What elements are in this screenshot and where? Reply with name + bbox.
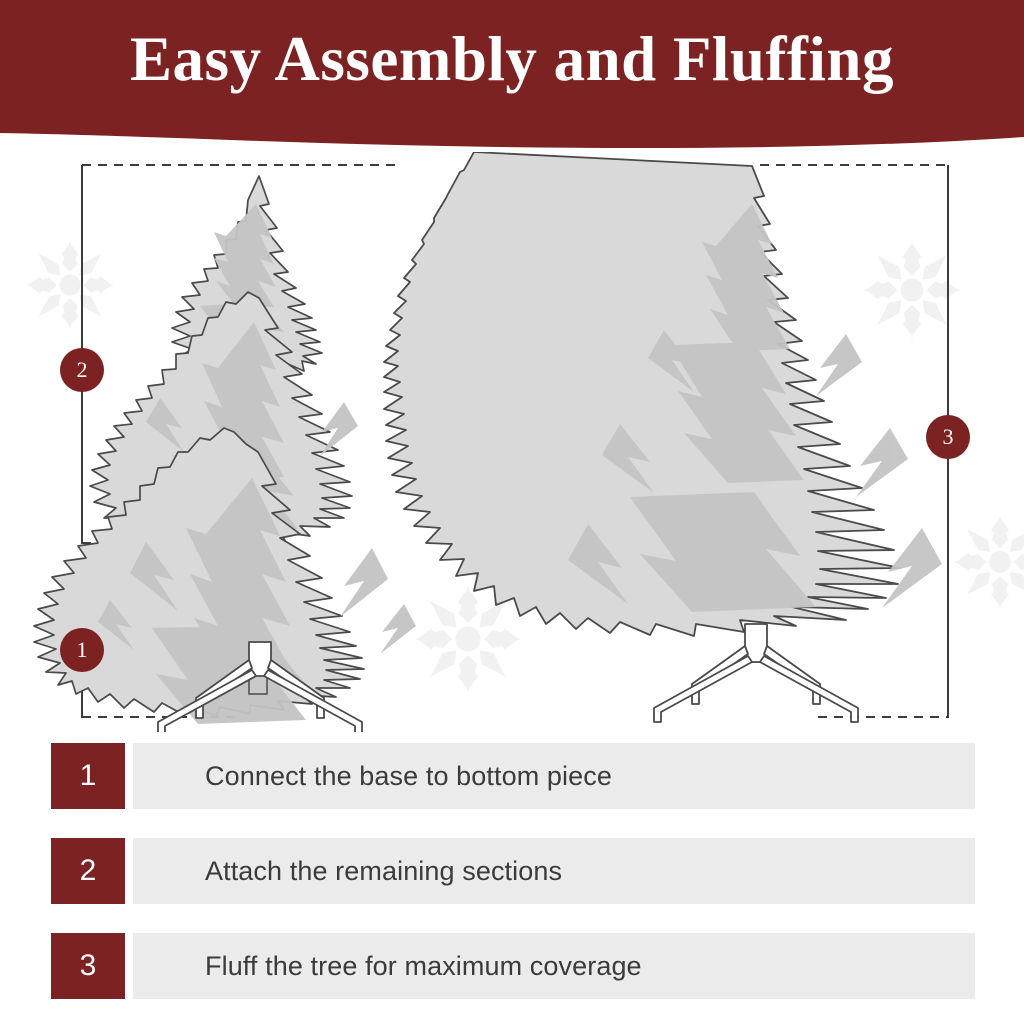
step-text-bar: Attach the remaining sections <box>133 838 975 904</box>
step-description: Connect the base to bottom piece <box>133 761 612 792</box>
step-number: 1 <box>80 761 97 791</box>
step-number: 2 <box>80 856 97 886</box>
diagram-canvas <box>0 152 1024 732</box>
tree-stand-right <box>654 624 858 722</box>
step-description: Fluff the tree for maximum coverage <box>133 951 642 982</box>
assembly-diagram: 2 1 3 <box>0 152 1024 732</box>
step-row: 2 Attach the remaining sections <box>51 838 975 904</box>
step-text-bar: Fluff the tree for maximum coverage <box>133 933 975 999</box>
page-title: Easy Assembly and Fluffing <box>0 26 1024 92</box>
step-number-badge: 2 <box>51 838 125 904</box>
infographic-page: Easy Assembly and Fluffing <box>0 0 1024 1024</box>
snowflake-icon <box>954 516 1024 608</box>
bracket-badge-3-label: 3 <box>943 426 954 448</box>
snowflake-icon <box>26 241 113 328</box>
bracket-badge-3: 3 <box>926 415 970 459</box>
step-row: 3 Fluff the tree for maximum coverage <box>51 933 975 999</box>
bracket-badge-2-label: 2 <box>77 359 88 381</box>
bracket-badge-1: 1 <box>60 628 104 672</box>
step-number-badge: 3 <box>51 933 125 999</box>
step-description: Attach the remaining sections <box>133 856 562 887</box>
snowflake-icon <box>864 242 961 339</box>
step-text-bar: Connect the base to bottom piece <box>133 743 975 809</box>
bracket-badge-2: 2 <box>60 348 104 392</box>
step-number-badge: 1 <box>51 743 125 809</box>
bracket-badge-1-label: 1 <box>77 639 88 661</box>
step-number: 3 <box>80 951 97 981</box>
step-row: 1 Connect the base to bottom piece <box>51 743 975 809</box>
header-banner: Easy Assembly and Fluffing <box>0 0 1024 152</box>
